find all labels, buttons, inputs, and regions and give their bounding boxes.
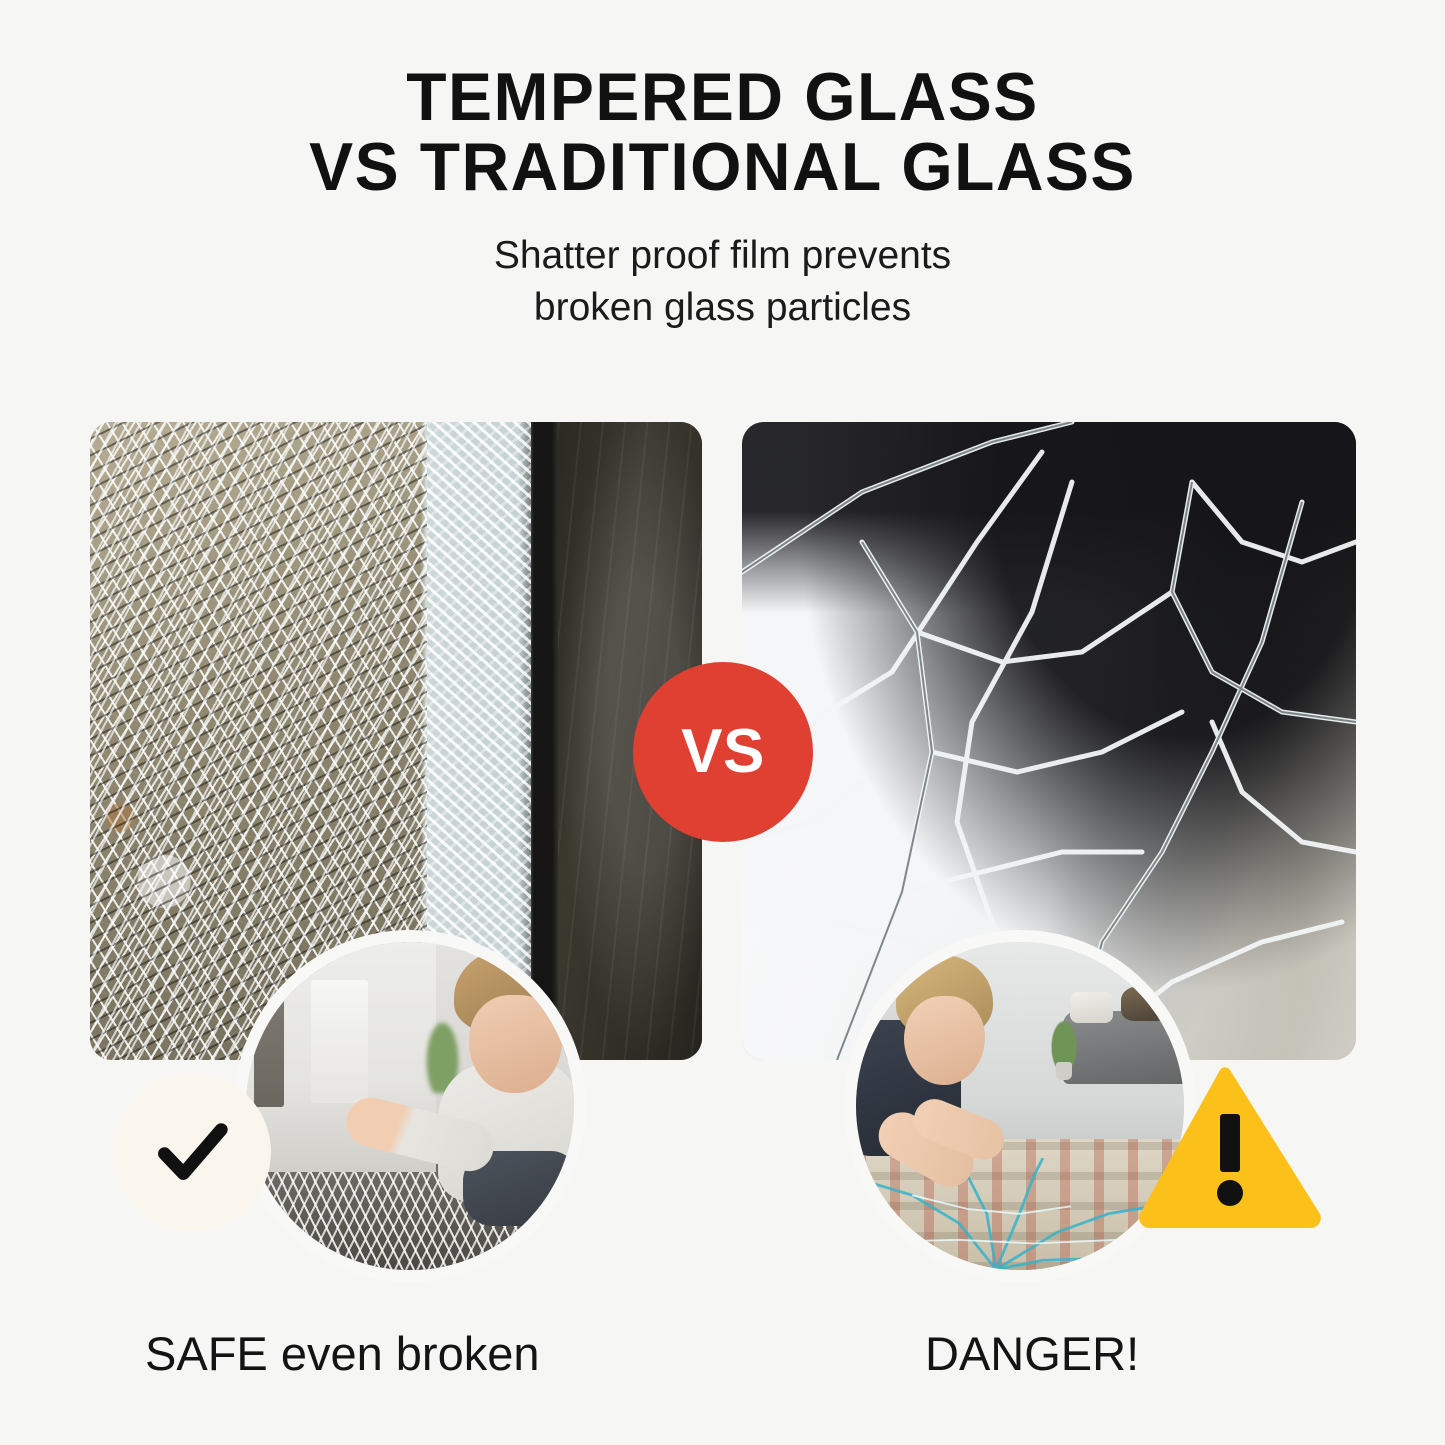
danger-caption: DANGER! — [925, 1330, 1139, 1377]
safe-status-badge — [113, 1073, 271, 1231]
danger-status-badge — [1135, 1062, 1325, 1228]
page-subtitle: Shatter proof film prevents broken glass… — [0, 230, 1445, 334]
toddler-figure-left — [377, 949, 580, 1238]
safe-caption: SAFE even broken — [145, 1330, 540, 1377]
infographic-canvas: TEMPERED GLASS VS TRADITIONAL GLASS Shat… — [0, 0, 1445, 1445]
houseplant-right — [1048, 1020, 1080, 1080]
child-figure-right — [844, 955, 1046, 1250]
vs-badge: VS — [633, 662, 813, 842]
page-title: TEMPERED GLASS VS TRADITIONAL GLASS — [22, 62, 1424, 202]
safe-scene — [246, 942, 574, 1270]
check-icon — [149, 1109, 235, 1195]
child-face-right — [904, 996, 985, 1085]
toddler-face-left — [469, 995, 563, 1093]
header: TEMPERED GLASS VS TRADITIONAL GLASS Shat… — [0, 62, 1445, 334]
warning-triangle-icon — [1135, 1062, 1325, 1228]
safe-child-inset-photo — [234, 930, 586, 1282]
vs-badge-label: VS — [681, 721, 765, 783]
